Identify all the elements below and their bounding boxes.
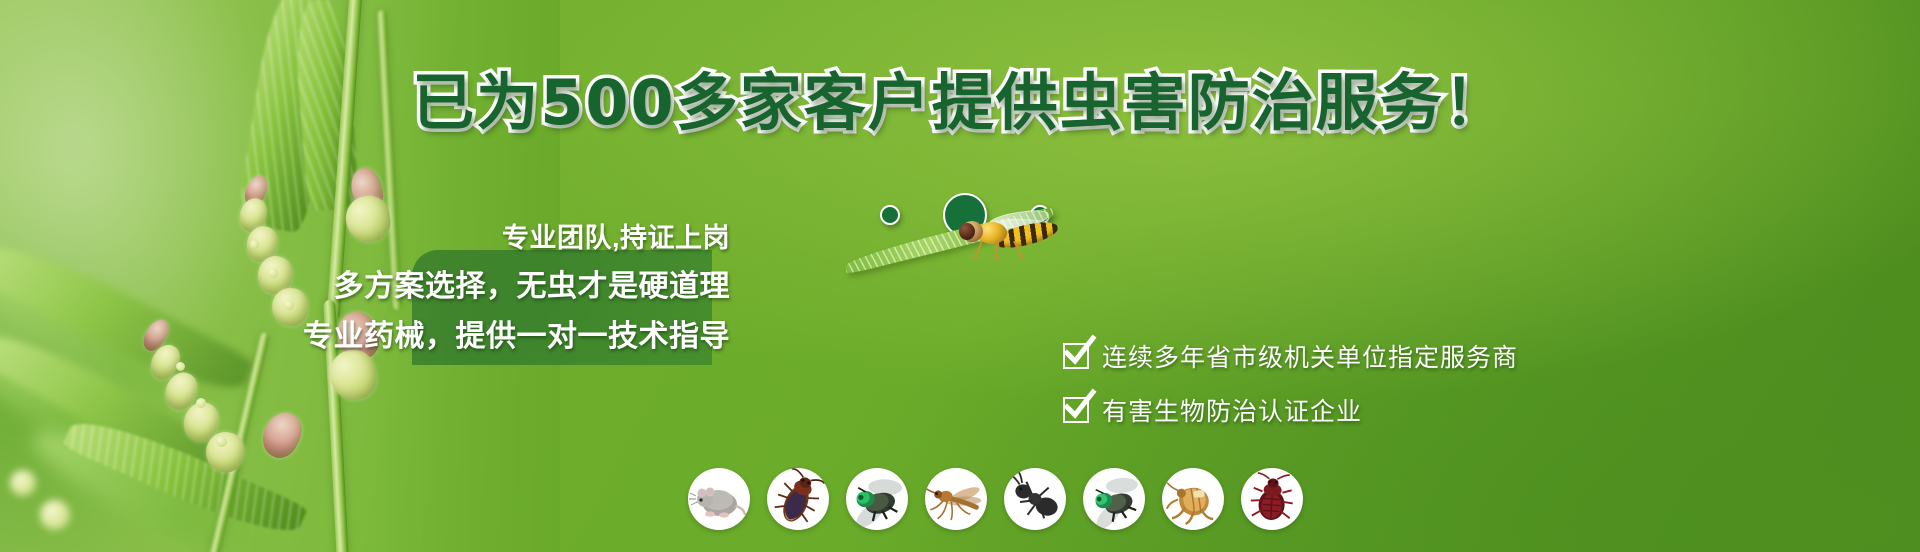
pollen-grain-1 bbox=[250, 240, 259, 249]
mosquito-icon[interactable] bbox=[925, 468, 987, 530]
rodent-icon[interactable] bbox=[688, 468, 750, 530]
housefly-icon[interactable] bbox=[1083, 468, 1145, 530]
credential-bullet-list: 连续多年省市级机关单位指定服务商 有害生物防治认证企业 bbox=[1063, 338, 1518, 428]
pollen-grain-3 bbox=[284, 300, 294, 310]
hoverfly-icon bbox=[955, 208, 1075, 264]
bedbug-icon[interactable] bbox=[1241, 468, 1303, 530]
blowfly-icon[interactable] bbox=[846, 468, 908, 530]
pollen-grain-4 bbox=[176, 362, 185, 371]
pest-type-icon-row bbox=[688, 468, 1303, 530]
hoverfly-eye bbox=[959, 223, 975, 240]
pollen-cluster-bottom-left-2 bbox=[40, 500, 70, 530]
copy-line-2: 多方案选择，无虫才是硬道理 bbox=[334, 261, 731, 305]
pollen-grain-5 bbox=[196, 398, 206, 408]
checkbox-checked-icon bbox=[1063, 397, 1089, 423]
bullet-item-1: 连续多年省市级机关单位指定服务商 bbox=[1063, 338, 1518, 374]
cockroach-icon[interactable] bbox=[767, 468, 829, 530]
bullet-item-2: 有害生物防治认证企业 bbox=[1063, 392, 1518, 428]
hoverfly-leg-1 bbox=[974, 241, 983, 260]
copy-line-1: 专业团队,持证上岗 bbox=[502, 216, 730, 255]
pollen-cluster-bottom-left bbox=[10, 470, 36, 496]
flea-icon[interactable] bbox=[1162, 468, 1224, 530]
copy-lines: 专业团队,持证上岗 多方案选择，无虫才是硬道理 专业药械，提供一对一技术指导 bbox=[330, 216, 750, 355]
checkbox-checked-icon bbox=[1063, 343, 1089, 369]
pollen-grain-2 bbox=[268, 268, 278, 278]
bullet-label-2: 有害生物防治认证企业 bbox=[1102, 392, 1362, 428]
pollen-grain-6 bbox=[216, 436, 227, 447]
copy-line-3: 专业药械，提供一对一技术指导 bbox=[303, 311, 730, 355]
banner-headline-text: 已为500多家客户提供虫害防治服务！ bbox=[412, 66, 1507, 139]
pest-control-promo-banner: 已为500多家客户提供虫害防治服务！ 专业团队,持证上岗 多方案选择，无虫才是硬… bbox=[0, 0, 1920, 552]
bullet-label-1: 连续多年省市级机关单位指定服务商 bbox=[1102, 338, 1518, 374]
ant-icon[interactable] bbox=[1004, 468, 1066, 530]
banner-headline: 已为500多家客户提供虫害防治服务！ bbox=[0, 72, 1920, 134]
hoverfly-on-grass-blade bbox=[845, 208, 1105, 298]
